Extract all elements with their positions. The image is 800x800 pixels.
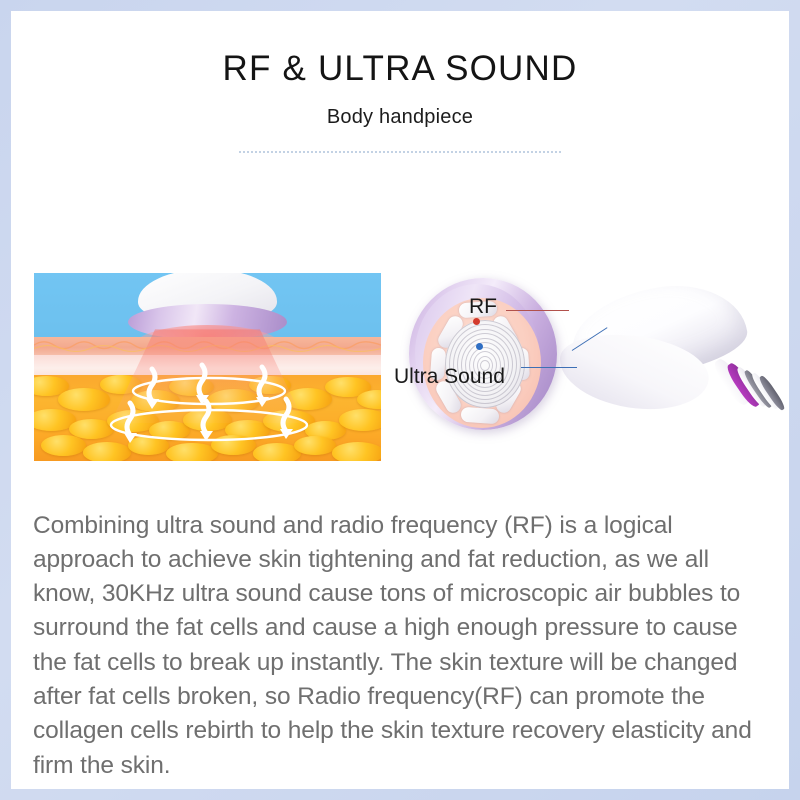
skin-cross-section-illustration [34, 273, 381, 461]
rf-callout-dot [473, 318, 480, 325]
body-paragraph: Combining ultra sound and radio frequenc… [33, 509, 771, 783]
header-divider [239, 151, 561, 153]
ultrasound-callout-dot [476, 343, 483, 350]
header: RF & ULTRA SOUND Body handpiece [11, 11, 789, 153]
label-ultra-sound: Ultra Sound [394, 365, 505, 389]
product-marketing-page: RF & ULTRA SOUND Body handpiece [0, 0, 800, 800]
product-photo: RF Ultra Sound [396, 262, 789, 462]
content-panel: RF & ULTRA SOUND Body handpiece [11, 11, 789, 789]
leader-line-ultrasound [521, 367, 577, 368]
page-subtitle: Body handpiece [11, 89, 789, 129]
media-row: RF Ultra Sound [11, 262, 789, 462]
illo-wave-arrows [34, 273, 381, 461]
page-title: RF & ULTRA SOUND [11, 11, 789, 89]
